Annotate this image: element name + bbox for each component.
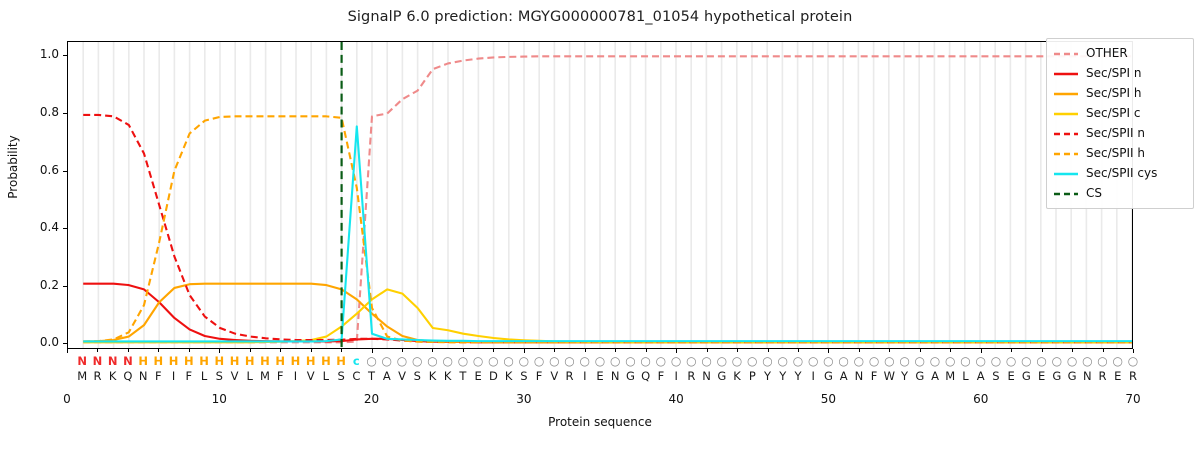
legend-label: Sec/SPI c [1086,106,1140,120]
x-tick-mark-minor [158,349,159,352]
residue-annotation: ○ [960,353,970,369]
legend-item-sec-spi-h[interactable]: Sec/SPI h [1053,83,1187,103]
residue-letter: E [475,368,482,384]
residue-annotation: ○ [625,353,635,369]
residue-annotation: H [214,353,224,369]
residue-annotation: ○ [1097,353,1107,369]
residue-letter: I [583,368,586,384]
residue-letter: S [520,368,527,384]
residue-annotation: N [93,353,103,369]
legend-swatch-icon [1053,106,1079,120]
residue-annotation: ○ [580,353,590,369]
residue-letter: P [749,368,756,384]
x-tick-mark-minor [189,349,190,352]
residue-annotation: ○ [823,353,833,369]
residue-annotation: ○ [458,353,468,369]
residue-letter: N [1083,368,1092,384]
residue-letter: F [658,368,665,384]
x-tick-mark-minor [311,349,312,352]
residue-annotation: ○ [382,353,392,369]
x-tick-mark-minor [646,349,647,352]
residue-letter: L [323,368,329,384]
residue-annotation: ○ [473,353,483,369]
residue-letter: C [352,368,360,384]
residue-annotation: H [321,353,331,369]
residue-annotation: ○ [503,353,513,369]
x-tick-mark-minor [1011,349,1012,352]
y-tick-label: 0.8 [0,105,59,119]
residue-letter: Y [764,368,771,384]
legend-label: OTHER [1086,46,1128,60]
legend-swatch-icon [1053,146,1079,160]
x-tick-mark-minor [950,349,951,352]
protein-sequence-row: MRKQNFIFLSVLMFIVLSCTAVSKKTEDKSFVRIENGQFI… [67,368,1133,384]
residue-letter: R [93,368,101,384]
residue-annotation: ○ [1052,353,1062,369]
x-tick-label: 70 [1113,392,1153,406]
x-tick-mark-minor [737,349,738,352]
x-tick-mark-minor [859,349,860,352]
y-tick-label: 0.2 [0,278,59,292]
residue-letter: R [1099,368,1107,384]
residue-letter: N [702,368,711,384]
residue-annotation: ○ [915,353,925,369]
residue-letter: A [977,368,985,384]
residue-letter: S [414,368,421,384]
legend-item-sec-spi-n[interactable]: Sec/SPI n [1053,63,1187,83]
y-tick-label: 1.0 [0,47,59,61]
residue-annotation: ○ [1036,353,1046,369]
residue-annotation: H [306,353,316,369]
residue-letter: G [915,368,924,384]
cleavage-site-marker [68,42,1132,348]
residue-annotation: H [291,353,301,369]
residue-annotation: H [245,353,255,369]
x-tick-label: 50 [808,392,848,406]
residue-letter: I [294,368,297,384]
residue-letter: R [687,368,695,384]
signalp-prediction-chart: SignalP 6.0 prediction: MGYG000000781_01… [0,0,1200,450]
x-tick-label: 40 [656,392,696,406]
residue-letter: K [505,368,513,384]
x-tick-mark-minor [798,349,799,352]
residue-annotation: ○ [777,353,787,369]
residue-letter: R [566,368,574,384]
residue-annotation: H [154,353,164,369]
residue-letter: G [1022,368,1031,384]
legend-swatch-icon [1053,86,1079,100]
legend-swatch-icon [1053,186,1079,200]
x-tick-mark-minor [463,349,464,352]
residue-annotation: ○ [732,353,742,369]
residue-letter: E [1114,368,1121,384]
residue-letter: T [459,368,466,384]
x-tick-label: 20 [352,392,392,406]
residue-letter: M [77,368,87,384]
residue-letter: V [550,368,558,384]
x-tick-mark-minor [768,349,769,352]
residue-annotation: ○ [1067,353,1077,369]
residue-letter: M [260,368,270,384]
residue-annotation: ○ [1113,353,1123,369]
residue-letter: M [945,368,955,384]
legend-swatch-icon [1053,126,1079,140]
residue-annotation: ○ [1082,353,1092,369]
residue-letter: W [884,368,895,384]
residue-letter: K [109,368,117,384]
residue-letter: D [489,368,498,384]
legend-swatch-icon [1053,166,1079,180]
legend-item-sec-spi-c[interactable]: Sec/SPI c [1053,103,1187,123]
residue-annotation: H [199,353,209,369]
legend-swatch-icon [1053,46,1079,60]
residue-letter: E [596,368,603,384]
residue-letter: Y [901,368,908,384]
residue-annotation: ○ [549,353,559,369]
residue-letter: K [444,368,452,384]
residue-letter: T [368,368,375,384]
residue-annotation: ○ [869,353,879,369]
residue-annotation: ○ [945,353,955,369]
legend-item-other[interactable]: OTHER [1053,43,1187,63]
residue-annotation: ○ [930,353,940,369]
legend-label: Sec/SPII h [1086,146,1145,160]
x-tick-mark-minor [1103,349,1104,352]
legend-item-sec-spii-h[interactable]: Sec/SPII h [1053,143,1187,163]
x-tick-mark-minor [128,349,129,352]
residue-letter: R [1129,368,1137,384]
residue-letter: N [611,368,620,384]
residue-annotation: H [230,353,240,369]
residue-letter: G [717,368,726,384]
residue-letter: A [840,368,848,384]
x-tick-label: 30 [504,392,544,406]
residue-letter: L [247,368,253,384]
residue-letter: S [337,368,344,384]
residue-letter: N [855,368,864,384]
residue-letter: I [811,368,814,384]
residue-letter: K [429,368,437,384]
residue-annotation: H [169,353,179,369]
residue-annotation: ○ [595,353,605,369]
residue-letter: F [871,368,878,384]
x-tick-mark-minor [341,349,342,352]
residue-annotation: ○ [519,353,529,369]
residue-annotation: H [336,353,346,369]
residue-letter: Q [641,368,650,384]
residue-annotation: ○ [397,353,407,369]
residue-letter: I [172,368,175,384]
x-tick-mark-minor [493,349,494,352]
residue-annotation: ○ [762,353,772,369]
x-tick-mark-minor [402,349,403,352]
x-tick-label: 10 [199,392,239,406]
residue-annotation: ○ [793,353,803,369]
residue-annotation: ○ [808,353,818,369]
residue-letter: F [536,368,543,384]
legend-label: Sec/SPII n [1086,126,1145,140]
residue-annotation: ○ [975,353,985,369]
residue-letter: I [674,368,677,384]
residue-annotation: ○ [1128,353,1138,369]
residue-annotation: ○ [1021,353,1031,369]
residue-letter: S [992,368,999,384]
x-tick-mark-minor [615,349,616,352]
legend-swatch-icon [1053,66,1079,80]
residue-annotation: ○ [366,353,376,369]
x-tick-mark-minor [920,349,921,352]
x-tick-mark-minor [554,349,555,352]
residue-annotation: N [123,353,133,369]
residue-letter: Y [794,368,801,384]
residue-annotation: ○ [717,353,727,369]
x-tick-mark-minor [1072,349,1073,352]
residue-annotation: N [108,353,118,369]
residue-annotation: ○ [640,353,650,369]
residue-letter: A [931,368,939,384]
x-tick-mark-minor [280,349,281,352]
residue-annotation: ○ [671,353,681,369]
x-axis-label: Protein sequence [0,415,1200,429]
legend-label: CS [1086,186,1102,200]
residue-letter: F [155,368,162,384]
residue-letter: V [231,368,239,384]
x-tick-mark-minor [1042,349,1043,352]
residue-annotation: ○ [534,353,544,369]
residue-annotation: ○ [701,353,711,369]
x-tick-mark-minor [707,349,708,352]
page-title: SignalP 6.0 prediction: MGYG000000781_01… [0,9,1200,25]
legend-label: Sec/SPI h [1086,86,1141,100]
residue-annotation: ○ [656,353,666,369]
residue-annotation: ○ [442,353,452,369]
plot-area [67,41,1133,349]
residue-letter: V [307,368,315,384]
x-tick-mark-minor [889,349,890,352]
chart-legend[interactable]: OTHERSec/SPI nSec/SPI hSec/SPI cSec/SPII… [1046,38,1194,209]
legend-label: Sec/SPII cys [1086,166,1157,180]
residue-annotation: ○ [991,353,1001,369]
residue-annotation: ○ [610,353,620,369]
legend-item-sec-spii-n[interactable]: Sec/SPII n [1053,123,1187,143]
residue-letter: G [1052,368,1061,384]
x-tick-mark-minor [585,349,586,352]
residue-annotation: H [260,353,270,369]
residue-annotation: H [275,353,285,369]
residue-letter: S [216,368,223,384]
residue-letter: A [383,368,391,384]
y-tick-label: 0.0 [0,335,59,349]
legend-label: Sec/SPI n [1086,66,1141,80]
residue-annotation: ○ [838,353,848,369]
y-tick-label: 0.6 [0,163,59,177]
residue-letter: L [962,368,968,384]
residue-letter: E [1038,368,1045,384]
residue-letter: V [398,368,406,384]
residue-letter: F [186,368,193,384]
residue-letter: G [824,368,833,384]
residue-annotation: ○ [884,353,894,369]
residue-annotation: H [184,353,194,369]
residue-annotation: ○ [412,353,422,369]
residue-letter: N [139,368,148,384]
residue-annotation: ○ [1006,353,1016,369]
residue-letter: Q [123,368,132,384]
residue-annotation: ○ [899,353,909,369]
residue-annotation: ○ [564,353,574,369]
residue-letter: Y [779,368,786,384]
residue-letter: K [733,368,741,384]
residue-letter: E [1008,368,1015,384]
legend-item-sec-spii-cys[interactable]: Sec/SPII cys [1053,163,1187,183]
residue-annotation-row: NNNNHHHHHHHHHHHHHHc○○○○○○○○○○○○○○○○○○○○○… [67,353,1133,369]
residue-annotation: ○ [747,353,757,369]
y-tick-label: 0.4 [0,220,59,234]
residue-letter: G [626,368,635,384]
residue-annotation: ○ [427,353,437,369]
x-tick-label: 60 [961,392,1001,406]
residue-annotation: N [77,353,87,369]
residue-letter: G [1068,368,1077,384]
residue-annotation: ○ [488,353,498,369]
residue-letter: L [201,368,207,384]
residue-annotation: H [138,353,148,369]
residue-annotation: c [353,353,360,369]
x-tick-mark-minor [250,349,251,352]
legend-item-cs[interactable]: CS [1053,183,1187,203]
x-tick-mark-minor [432,349,433,352]
residue-annotation: ○ [854,353,864,369]
residue-letter: F [277,368,284,384]
x-tick-label: 0 [47,392,87,406]
x-tick-mark-minor [97,349,98,352]
residue-annotation: ○ [686,353,696,369]
